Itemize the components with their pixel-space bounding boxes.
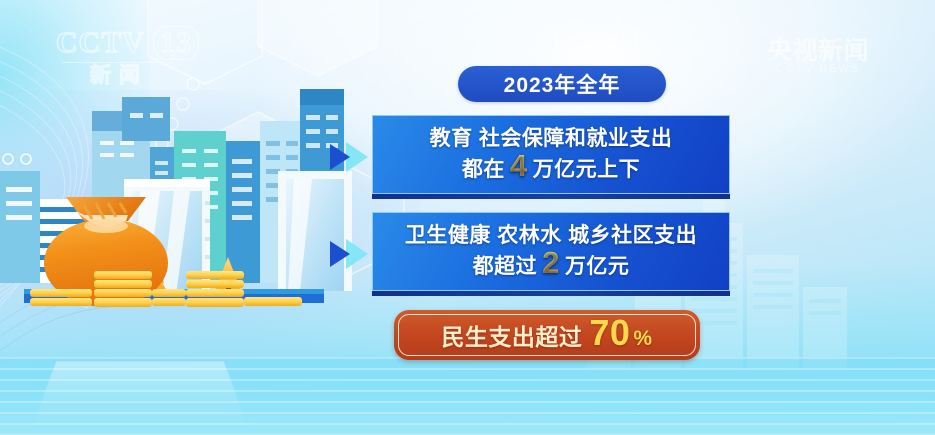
stat-2-prefix: 都超过 bbox=[473, 253, 538, 280]
stat-card-2-underline bbox=[372, 291, 730, 296]
stat-card-1: 教育 社会保障和就业支出 都在 4 万亿元上下 bbox=[372, 115, 730, 194]
infographic-canvas: CCTV 13 新闻 央视新闻 CCTV NEWS 2023年全年 教育 社会保… bbox=[0, 0, 935, 435]
highlight-value: 70 bbox=[583, 318, 632, 348]
stat-card-2: 卫生健康 农林水 城乡社区支出 都超过 2 万亿元 bbox=[372, 212, 730, 291]
highlight-unit: % bbox=[633, 327, 652, 351]
stat-1-prefix: 都在 bbox=[462, 156, 505, 183]
highlight-pill: 民生支出超过 70 % bbox=[394, 310, 700, 360]
stat-1-line-2: 都在 4 万亿元上下 bbox=[373, 152, 729, 183]
cctv-logo-underline bbox=[62, 62, 174, 63]
cctv-logo: CCTV 13 新闻 bbox=[56, 26, 182, 92]
channel-watermark: 央视新闻 CCTV NEWS bbox=[748, 38, 888, 76]
period-title-badge: 2023年全年 bbox=[458, 66, 666, 102]
cctv-logo-subtitle: 新闻 bbox=[56, 63, 182, 87]
city-skyline-icon bbox=[0, 75, 360, 375]
watermark-text: 央视新闻 bbox=[767, 37, 869, 65]
info-panel: 2023年全年 教育 社会保障和就业支出 都在 4 万亿元上下 bbox=[372, 66, 752, 360]
reflective-floor bbox=[0, 357, 935, 435]
watermark-subtext: CCTV NEWS bbox=[748, 64, 888, 76]
cctv-logo-wordmark: CCTV bbox=[56, 26, 144, 59]
stat-block-1: 教育 社会保障和就业支出 都在 4 万亿元上下 bbox=[372, 115, 752, 199]
stat-2-line-2: 都超过 2 万亿元 bbox=[373, 249, 729, 280]
stat-card-1-underline bbox=[372, 194, 730, 199]
chevron-right-icon bbox=[328, 237, 372, 271]
floor-reflection bbox=[30, 361, 250, 433]
stat-1-suffix: 万亿元上下 bbox=[533, 156, 641, 183]
stat-block-2: 卫生健康 农林水 城乡社区支出 都超过 2 万亿元 bbox=[372, 212, 752, 296]
cctv-logo-channel-number: 13 bbox=[153, 26, 199, 60]
stat-1-line-1: 教育 社会保障和就业支出 bbox=[373, 125, 729, 152]
stat-1-value: 4 bbox=[507, 152, 531, 179]
highlight-pill-content: 民生支出超过 70 % bbox=[441, 318, 652, 352]
stat-2-suffix: 万亿元 bbox=[565, 253, 630, 280]
chevron-right-icon bbox=[328, 140, 372, 174]
highlight-label: 民生支出超过 bbox=[441, 318, 582, 352]
stat-2-value: 2 bbox=[539, 249, 563, 276]
